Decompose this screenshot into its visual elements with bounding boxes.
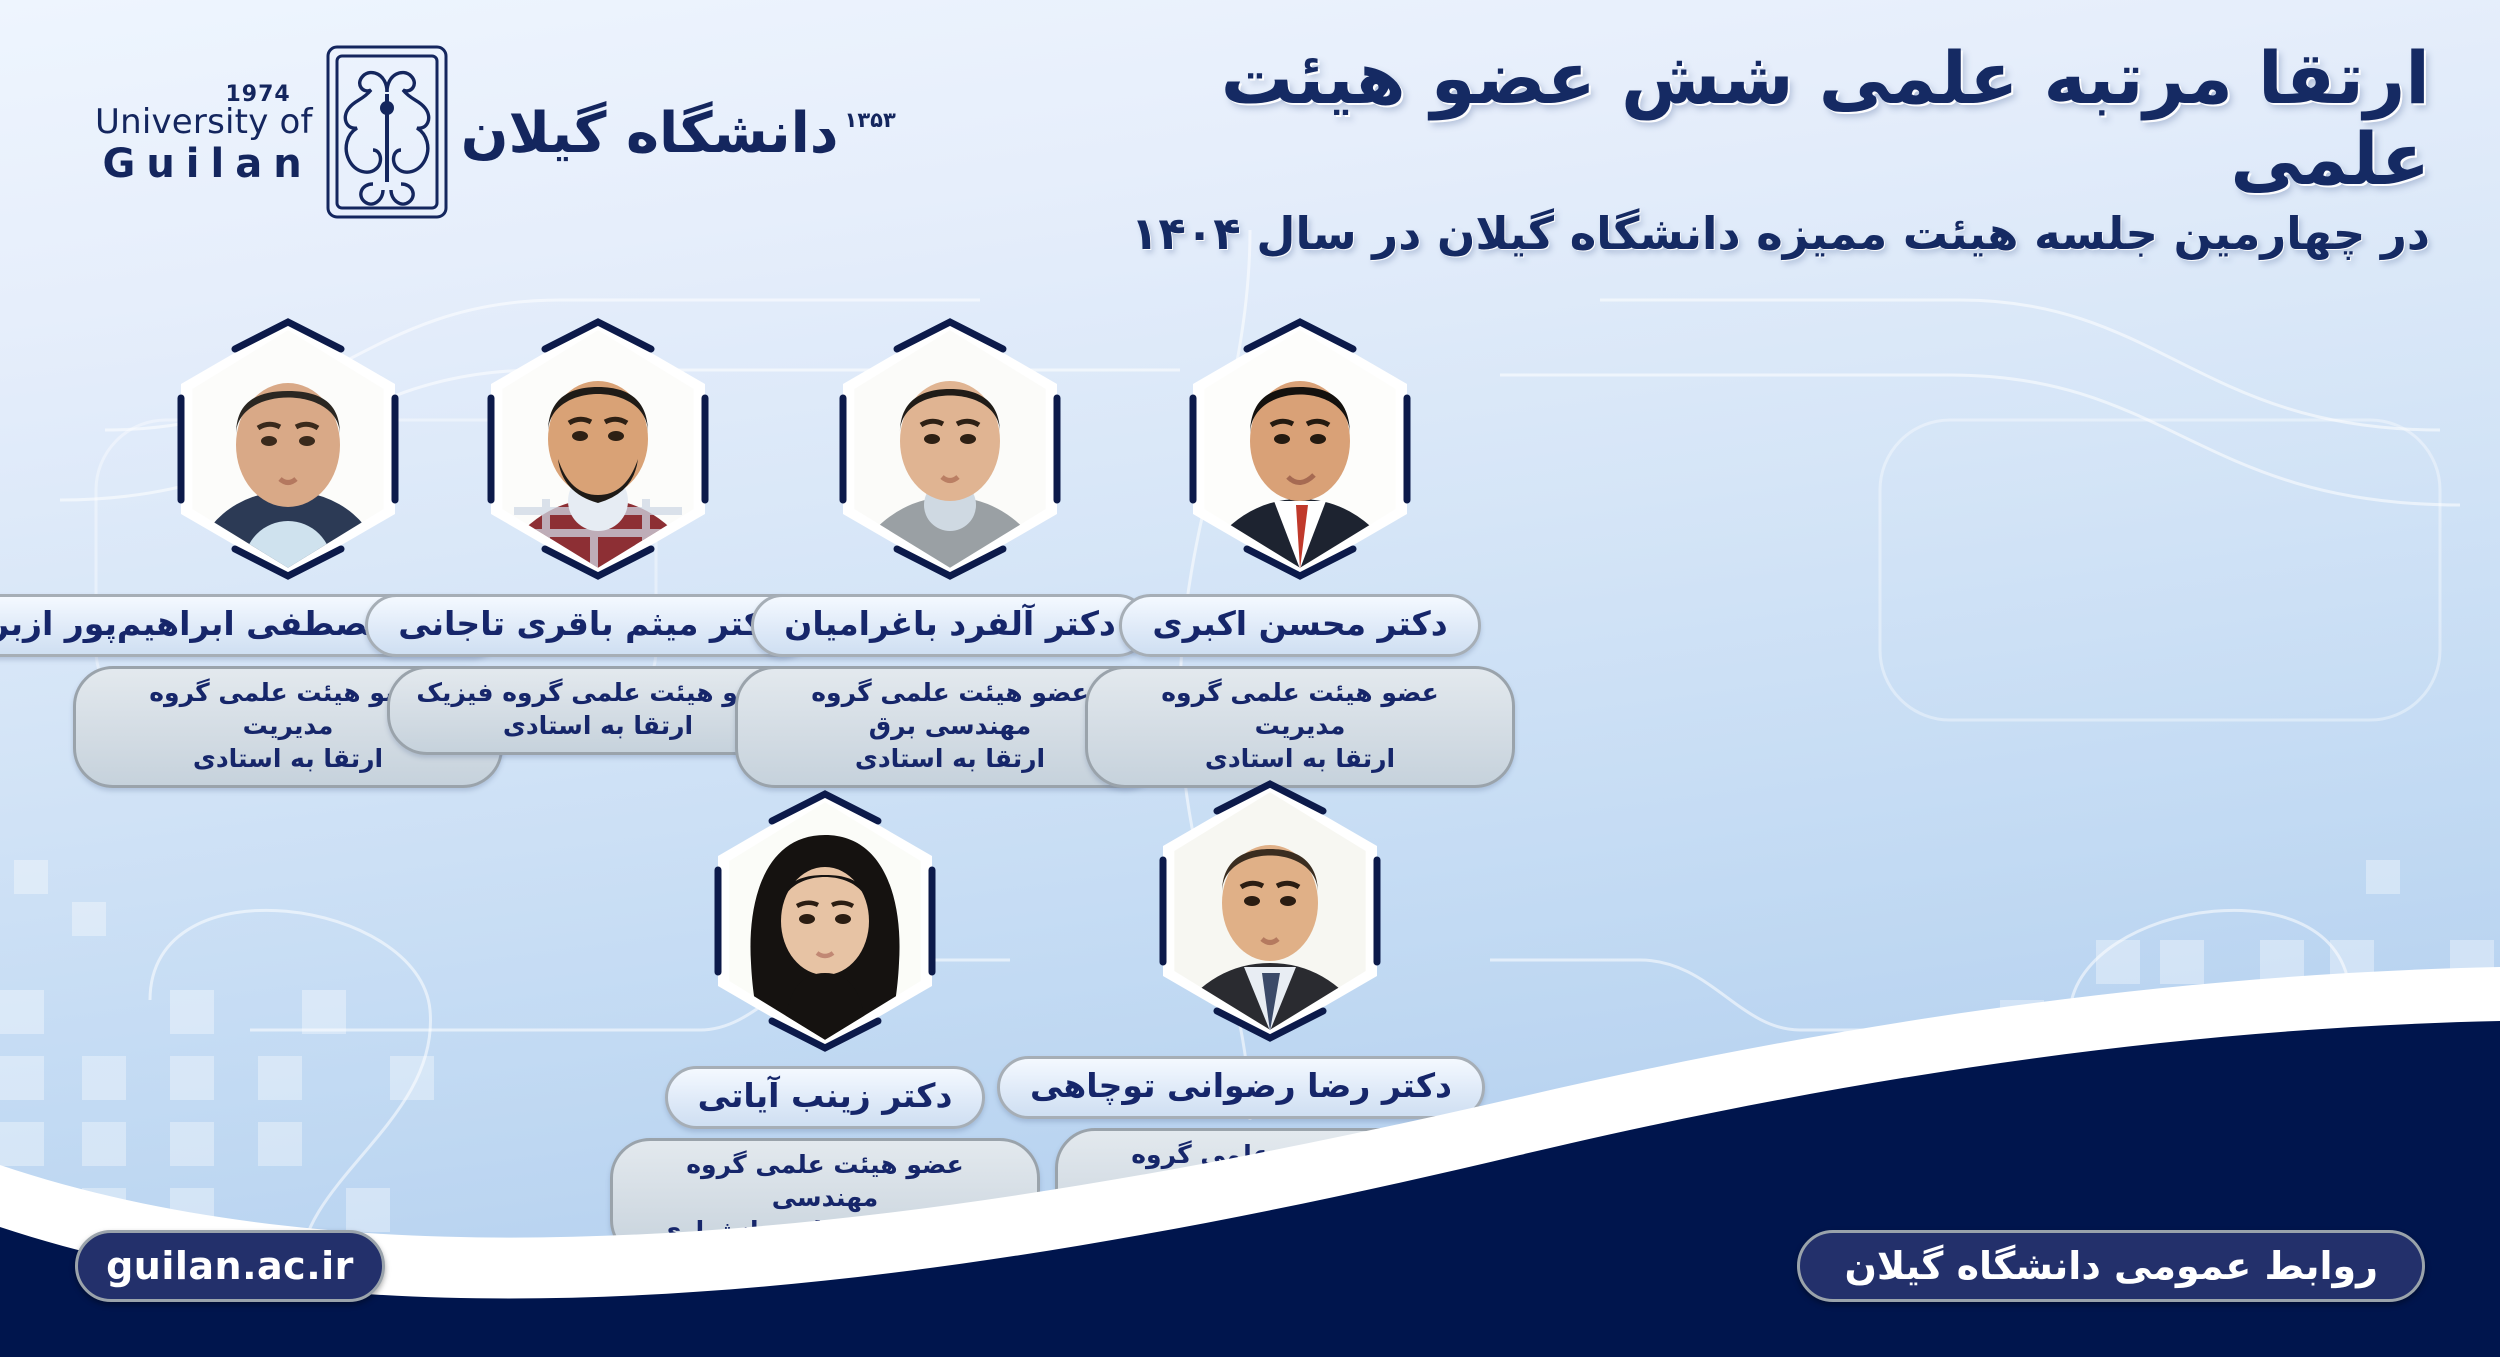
portrait-hex-frame xyxy=(1185,318,1415,580)
faculty-role: عضو هیئت علمی گروه مدیریت ارتقا به استاد… xyxy=(1085,666,1515,788)
faculty-role-line2: ارتقا به استادی xyxy=(764,742,1136,775)
portrait-hex-frame xyxy=(483,318,713,580)
portrait-hex-frame xyxy=(835,318,1065,580)
faculty-role-line2: ارتقا به استادی xyxy=(1114,742,1486,775)
faculty-role-line1: عضو هیئت علمی گروه مدیریت xyxy=(1114,676,1486,742)
poster-canvas: 1974 University of Guilan ۱۳۵۳ د xyxy=(0,0,2500,1357)
public-relations-label: روابط عمومی دانشگاه گیلان xyxy=(1844,1244,2378,1288)
faculty-role-line2: ارتقا به استادی xyxy=(416,709,779,742)
public-relations-pill[interactable]: روابط عمومی دانشگاه گیلان xyxy=(1797,1230,2425,1302)
website-pill[interactable]: guilan.ac.ir xyxy=(75,1230,385,1302)
faculty-name: دکتر محسن اکبری xyxy=(1119,594,1480,657)
faculty-card: دکتر محسن اکبری عضو هیئت علمی گروه مدیری… xyxy=(1085,318,1515,788)
faculty-role-line1: عضو هیئت علمی گروه فیزیک xyxy=(416,676,779,709)
website-url-label: guilan.ac.ir xyxy=(106,1244,354,1288)
portrait-hex-frame xyxy=(173,318,403,580)
faculty-role-line1: عضو هیئت علمی گروه مهندسی برق xyxy=(764,676,1136,742)
